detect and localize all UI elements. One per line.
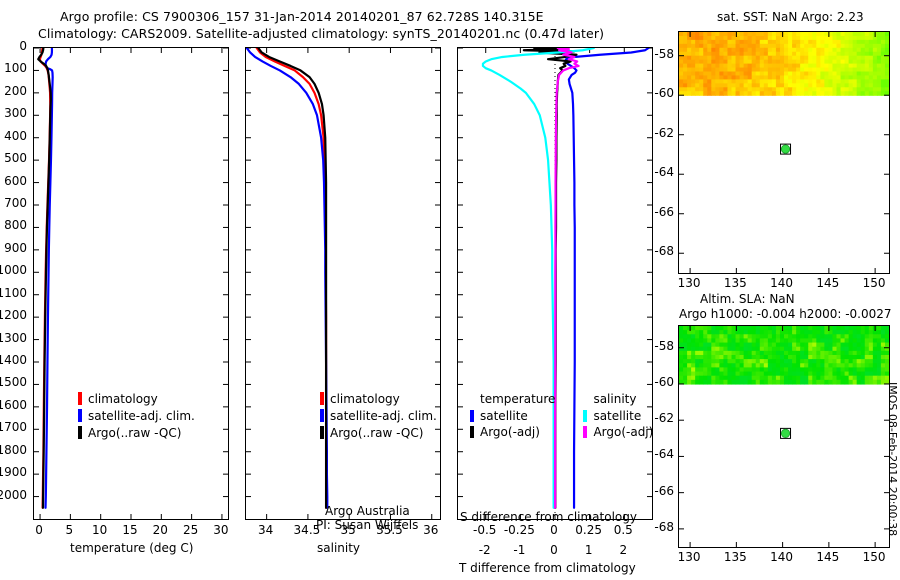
- legend-swatch: [78, 409, 82, 422]
- legend-swatch: [320, 409, 324, 422]
- legend-swatch: [320, 426, 324, 439]
- y-tick-label: 0: [19, 39, 27, 53]
- legend-label: satellite-adj. clim.: [88, 409, 195, 423]
- legend-group: salinitysatelliteArgo(-adj): [583, 392, 653, 440]
- map-y-tick-label: -68: [654, 244, 674, 258]
- legend-item: satellite-adj. clim.: [320, 407, 437, 424]
- legend-group-header: salinity: [593, 392, 653, 408]
- map-y-tick-label: -64: [654, 165, 674, 179]
- legend-group-header: temperature: [480, 392, 555, 408]
- x-tick-label: 15: [122, 523, 137, 537]
- y-tick-label: 500: [4, 151, 27, 165]
- legend-item: satellite-adj. clim.: [78, 407, 195, 424]
- y-tick-label: 1300: [0, 331, 27, 345]
- legend-swatch: [470, 426, 474, 438]
- legend-label: satellite: [480, 409, 528, 423]
- x-tick-label: 0: [35, 523, 43, 537]
- x-tick-label: 0: [550, 543, 558, 557]
- legend-item: climatology: [320, 390, 437, 407]
- salinity-xaxis-title: salinity: [317, 541, 360, 555]
- sla-map-title-line2: Argo h1000: -0.004 h2000: -0.0027: [679, 307, 892, 321]
- temperature-panel: [33, 47, 229, 520]
- salinity-plot-area: [246, 48, 440, 519]
- x-tick-label: 0.25: [575, 523, 602, 537]
- legend-item: satellite: [583, 408, 653, 424]
- map-y-tick-label: -64: [654, 447, 674, 461]
- y-tick-label: 300: [4, 106, 27, 120]
- legend-label: satellite: [593, 409, 641, 423]
- map-x-tick-label: 150: [863, 550, 886, 564]
- x-tick-label: 0.5: [614, 523, 633, 537]
- sla-map-xaxis-labels: 130135140145150: [678, 550, 890, 566]
- legend-label: Argo(..raw -QC): [330, 426, 423, 440]
- temperature-plot-area: [34, 48, 228, 519]
- temperature-legend: climatologysatellite-adj. clim.Argo(..ra…: [78, 390, 195, 441]
- figure-title-line1: Argo profile: CS 7900306_157 31-Jan-2014…: [60, 9, 544, 24]
- salinity-legend: climatologysatellite-adj. clim.Argo(..ra…: [320, 390, 437, 441]
- map-x-tick-label: 140: [770, 550, 793, 564]
- credit-line2: PI: Susan Wijffels: [316, 518, 418, 532]
- difference-panel: [457, 47, 653, 520]
- sla-map-area: [679, 326, 889, 547]
- x-tick-label: 25: [183, 523, 198, 537]
- map-y-tick-label: -60: [654, 375, 674, 389]
- legend-item: Argo(..raw -QC): [320, 424, 437, 441]
- x-tick-label: 0: [550, 523, 558, 537]
- difference-plot-area: [458, 48, 652, 519]
- x-tick-label: -0.25: [504, 523, 535, 537]
- map-x-tick-label: 150: [863, 276, 886, 290]
- salinity-panel: [245, 47, 441, 520]
- legend-swatch: [78, 426, 82, 439]
- map-y-tick-label: -68: [654, 520, 674, 534]
- legend-swatch: [470, 410, 474, 422]
- figure-title-line2: Climatology: CARS2009. Satellite-adjuste…: [38, 26, 604, 41]
- y-tick-label: 1500: [0, 375, 27, 389]
- legend-label: Argo(..raw -QC): [88, 426, 181, 440]
- x-tick-label: 10: [92, 523, 107, 537]
- legend-item: Argo(-adj): [583, 424, 653, 440]
- sst-map-title: sat. SST: NaN Argo: 2.23: [717, 10, 864, 24]
- y-tick-label: 1400: [0, 353, 27, 367]
- temperature-xaxis-labels: 051015202530: [33, 523, 229, 539]
- map-y-tick-label: -66: [654, 205, 674, 219]
- sst-map-yaxis-labels: -58-60-62-64-66-68: [646, 31, 676, 274]
- legend-swatch: [320, 392, 324, 405]
- y-tick-label: 1100: [0, 286, 27, 300]
- y-tick-label: 1000: [0, 263, 27, 277]
- legend-label: Argo(-adj): [480, 425, 540, 439]
- sla-map-panel: [678, 325, 890, 548]
- difference-xaxis-bottom-labels: -2-1012: [457, 543, 653, 559]
- y-tick-label: 700: [4, 196, 27, 210]
- map-y-tick-label: -62: [654, 126, 674, 140]
- map-y-tick-label: -58: [654, 339, 674, 353]
- legend-item: Argo(-adj): [470, 424, 555, 440]
- y-tick-label: 100: [4, 61, 27, 75]
- imos-watermark: IMOS 08-Feb-2014 20:00:38: [886, 382, 900, 532]
- map-x-tick-label: 140: [770, 276, 793, 290]
- difference-xaxis-bottom-title: T difference from climatology: [459, 561, 636, 575]
- y-tick-label: 200: [4, 84, 27, 98]
- x-tick-label: 34: [258, 523, 273, 537]
- map-y-tick-label: -60: [654, 86, 674, 100]
- map-x-tick-label: 135: [724, 550, 747, 564]
- y-tick-label: 900: [4, 241, 27, 255]
- sst-map-area: [679, 32, 889, 273]
- legend-label: Argo(-adj): [593, 425, 653, 439]
- difference-xaxis-top-title: S difference from climatology: [460, 510, 637, 524]
- sla-map-title-line1: Altim. SLA: NaN: [700, 292, 795, 306]
- credit-line1: Argo Australia: [325, 504, 410, 518]
- difference-xaxis-top-labels: -0.5-0.2500.250.5: [457, 523, 653, 539]
- legend-item: climatology: [78, 390, 195, 407]
- map-x-tick-label: 145: [816, 550, 839, 564]
- y-tick-label: 1800: [0, 443, 27, 457]
- legend-label: satellite-adj. clim.: [330, 409, 437, 423]
- x-tick-label: 1: [585, 543, 593, 557]
- legend-label: climatology: [330, 392, 400, 406]
- legend-swatch: [78, 392, 82, 405]
- map-x-tick-label: 135: [724, 276, 747, 290]
- y-tick-label: 2000: [0, 488, 27, 502]
- map-y-tick-label: -66: [654, 484, 674, 498]
- x-tick-label: -2: [479, 543, 491, 557]
- x-tick-label: 36: [423, 523, 438, 537]
- map-x-tick-label: 145: [816, 276, 839, 290]
- y-tick-label: 1600: [0, 398, 27, 412]
- x-tick-label: 30: [213, 523, 228, 537]
- map-y-tick-label: -62: [654, 411, 674, 425]
- y-tick-label: 400: [4, 129, 27, 143]
- legend-group: temperaturesatelliteArgo(-adj): [470, 392, 555, 440]
- x-tick-label: -1: [513, 543, 525, 557]
- legend-swatch: [583, 426, 587, 438]
- temperature-yaxis-labels: 0100200300400500600700800900100011001200…: [0, 47, 31, 520]
- y-tick-label: 1700: [0, 420, 27, 434]
- legend-label: climatology: [88, 392, 158, 406]
- map-x-tick-label: 130: [678, 276, 701, 290]
- legend-swatch: [583, 410, 587, 422]
- y-tick-label: 1200: [0, 308, 27, 322]
- x-tick-label: 2: [619, 543, 627, 557]
- difference-legend: temperaturesatelliteArgo(-adj)salinitysa…: [470, 392, 653, 440]
- map-x-tick-label: 130: [678, 550, 701, 564]
- x-tick-label: 20: [153, 523, 168, 537]
- y-tick-label: 1900: [0, 465, 27, 479]
- legend-item: satellite: [470, 408, 555, 424]
- x-tick-label: -0.5: [473, 523, 496, 537]
- map-y-tick-label: -58: [654, 47, 674, 61]
- legend-item: Argo(..raw -QC): [78, 424, 195, 441]
- imos-watermark-text: IMOS 08-Feb-2014 20:00:38: [886, 382, 899, 536]
- sla-map-yaxis-labels: -58-60-62-64-66-68: [646, 325, 676, 548]
- y-tick-label: 800: [4, 218, 27, 232]
- sst-map-xaxis-labels: 130135140145150: [678, 276, 890, 292]
- temperature-xaxis-title: temperature (deg C): [70, 541, 193, 555]
- sst-map-panel: [678, 31, 890, 274]
- y-tick-label: 600: [4, 174, 27, 188]
- x-tick-label: 5: [66, 523, 74, 537]
